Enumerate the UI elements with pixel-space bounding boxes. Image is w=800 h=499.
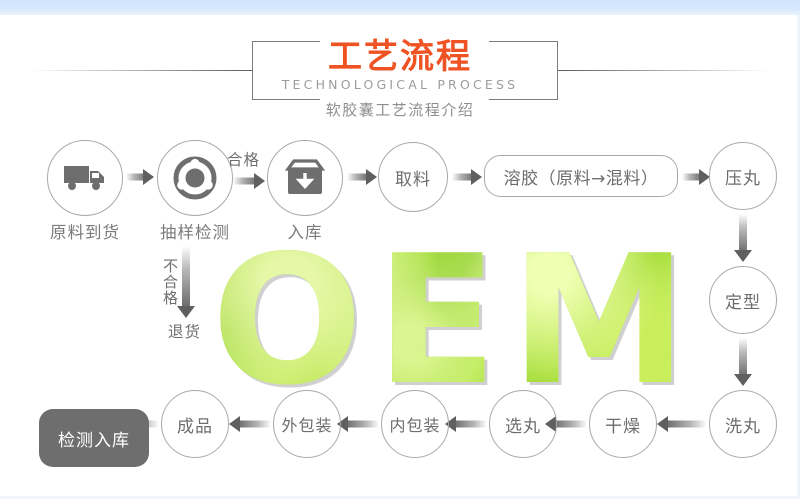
flow-node-inspection-storage-label: 检测入库 xyxy=(58,426,130,451)
arrow-right-2 xyxy=(233,172,265,190)
flow-node-inner-packaging[interactable]: 内包装 xyxy=(381,390,449,458)
truck-icon xyxy=(62,163,108,193)
flow-node-outer-packaging[interactable]: 外包装 xyxy=(273,390,341,458)
arrow-down-press-to-shape xyxy=(733,214,753,262)
flow-node-drying[interactable]: 干燥 xyxy=(589,390,657,458)
flow-node-inspection-storage[interactable]: 检测入库 xyxy=(39,409,149,467)
arrow-down-shape-to-wash xyxy=(733,338,753,386)
arrow-left-1 xyxy=(657,415,707,433)
top-blue-strip xyxy=(0,0,800,15)
flow-node-finished-product[interactable]: 成品 xyxy=(161,390,229,458)
flow-node-shaping[interactable]: 定型 xyxy=(709,266,777,334)
flow-node-raw-material-arrival-label: 原料到货 xyxy=(25,219,145,243)
arrow-right-5 xyxy=(682,168,710,186)
arrow-right-3 xyxy=(347,168,377,186)
page-subtitle-chinese: 软胶囊工艺流程介绍 xyxy=(0,99,800,120)
arrow-left-4 xyxy=(337,415,379,433)
arrow-left-3 xyxy=(445,415,487,433)
inspection-chuck-icon xyxy=(173,156,217,200)
flow-node-pill-pressing-label: 压丸 xyxy=(725,164,761,189)
flow-node-gel-dissolving[interactable]: 溶胶（原料→混料） xyxy=(484,155,678,197)
page-subtitle-english: TECHNOLOGICAL PROCESS xyxy=(0,77,800,92)
flow-node-raw-material-arrival[interactable] xyxy=(47,140,123,216)
flow-node-shaping-label: 定型 xyxy=(725,288,761,313)
arrow-left-5 xyxy=(229,415,271,433)
flow-node-pill-selection-label: 选丸 xyxy=(505,412,541,437)
oem-watermark: OEM xyxy=(196,235,716,410)
arrow-right-4 xyxy=(452,168,482,186)
flow-node-pill-washing-label: 洗丸 xyxy=(725,412,761,437)
inbox-download-icon xyxy=(284,158,326,198)
flow-node-sampling-inspection-label: 抽样检测 xyxy=(135,219,255,243)
page-title: 工艺流程 xyxy=(0,38,800,76)
flow-node-sampling-inspection[interactable] xyxy=(157,140,233,216)
flow-node-gel-dissolving-label: 溶胶（原料→混料） xyxy=(504,164,659,189)
flow-node-outer-packaging-label: 外包装 xyxy=(281,412,332,436)
flow-node-drying-label: 干燥 xyxy=(605,412,641,437)
process-flow-infographic: 工艺流程 TECHNOLOGICAL PROCESS 软胶囊工艺流程介绍 OEM… xyxy=(0,0,800,499)
branch-pass-label: 合格 xyxy=(227,148,260,170)
flow-node-finished-product-label: 成品 xyxy=(177,412,213,437)
flow-node-warehouse-in[interactable] xyxy=(267,140,343,216)
branch-return-label: 退货 xyxy=(168,320,201,342)
arrow-down-reject xyxy=(176,246,196,318)
flow-node-material-picking-label: 取料 xyxy=(395,165,431,190)
flow-node-inner-packaging-label: 内包装 xyxy=(389,412,440,436)
flow-node-pill-selection[interactable]: 选丸 xyxy=(489,390,557,458)
flow-node-pill-washing[interactable]: 洗丸 xyxy=(709,390,777,458)
flow-node-warehouse-in-label: 入库 xyxy=(255,219,355,243)
flow-node-material-picking[interactable]: 取料 xyxy=(378,142,448,212)
arrow-right-1 xyxy=(126,168,154,186)
flow-node-pill-pressing[interactable]: 压丸 xyxy=(709,142,777,210)
header: 工艺流程 TECHNOLOGICAL PROCESS 软胶囊工艺流程介绍 xyxy=(0,18,800,118)
